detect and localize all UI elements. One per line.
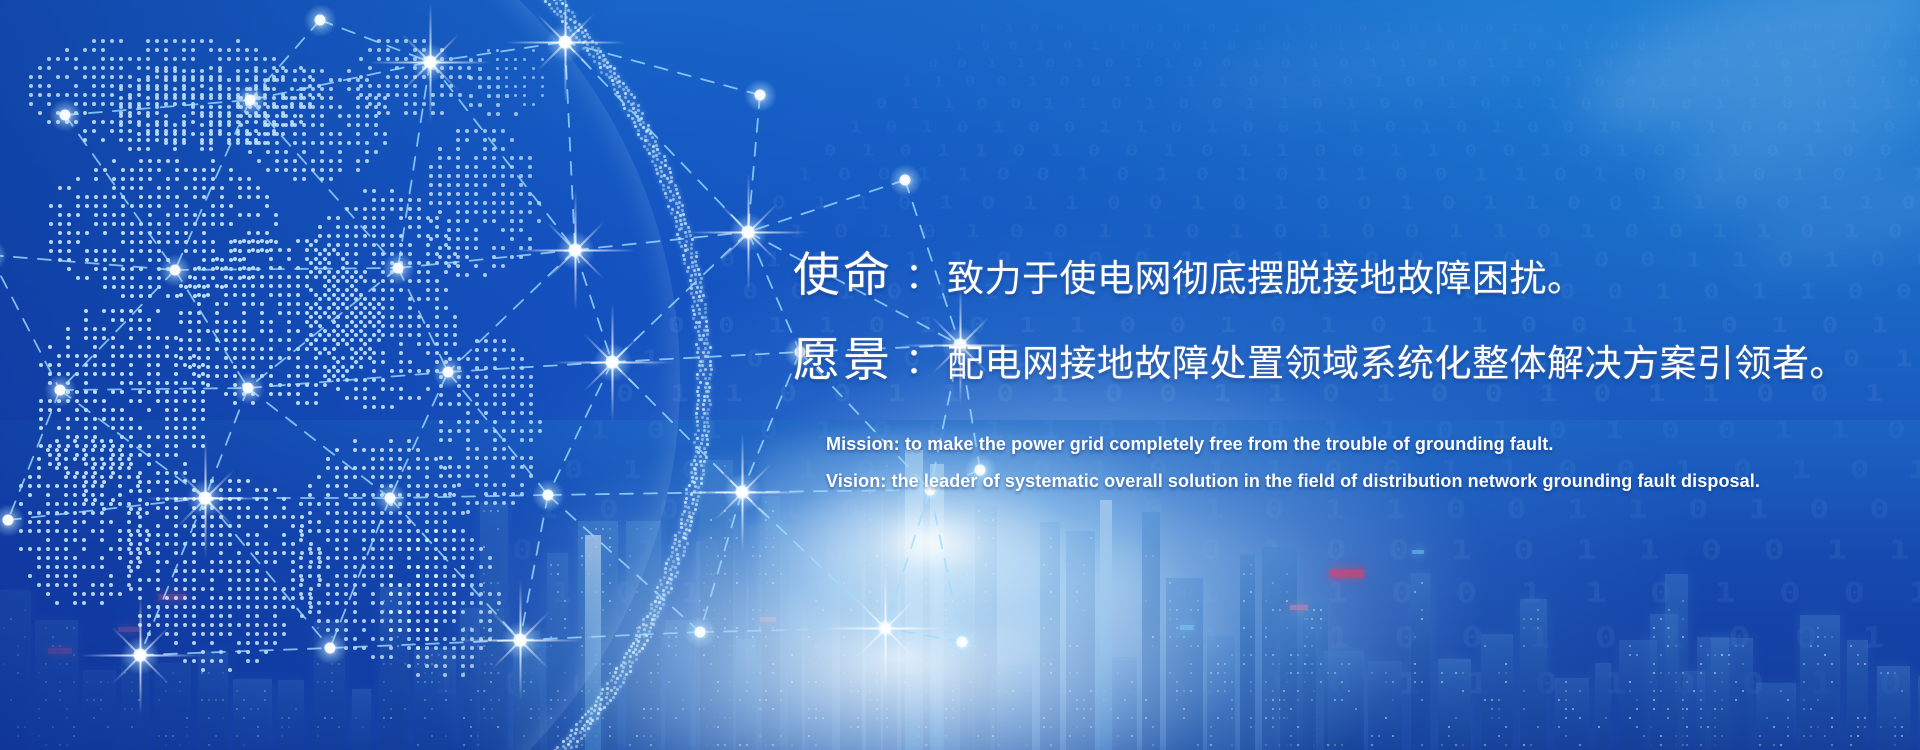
building-window [1169,636,1171,638]
building-window [131,690,133,692]
map-dot [193,240,197,244]
building-window [1857,654,1859,656]
map-dot [466,501,470,505]
map-dot [365,159,369,163]
globe-limb-dot [612,83,615,86]
map-dot [164,138,168,142]
building-window [1378,735,1380,737]
building-window [843,636,845,638]
globe-limb-dot [671,208,674,211]
building-window [904,717,906,719]
map-dot [146,87,150,91]
map-dot [308,610,312,614]
map-dot [182,69,186,73]
building-window [1279,699,1281,701]
map-dot [137,147,141,151]
building-window [1824,636,1826,638]
globe-limb-dot [706,333,709,336]
map-dot [484,339,488,343]
map-dot [278,275,282,279]
building-window [1565,717,1567,719]
map-dot [404,57,408,61]
map-dot [57,399,61,403]
map-dot [92,75,96,79]
map-dot [390,261,394,265]
globe-limb-dot [692,296,695,299]
map-dot [192,444,196,448]
map-dot [439,429,443,433]
map-dot [372,333,376,337]
building-window [1448,735,1450,737]
network-link [565,42,760,95]
map-dot [55,556,59,560]
map-dot [138,399,142,403]
map-dot [245,69,249,73]
map-dot [502,447,506,451]
map-dot [281,96,285,100]
map-dot [229,267,233,271]
building-window [713,645,715,647]
map-dot [326,628,330,632]
vision-value: 配电网接地故障处置领域系统化整体解决方案引领者。 [947,333,1847,387]
map-dot [443,592,447,596]
map-dot [389,493,393,497]
building [380,587,409,750]
map-dot [92,129,96,133]
map-dot [457,402,461,406]
building [1711,638,1752,750]
network-node [245,95,256,106]
building-window [1297,690,1299,692]
globe-limb-dot [669,582,672,585]
map-dot [317,556,321,560]
map-dot [275,141,279,145]
building-window [759,708,761,710]
map-dot [511,366,515,370]
map-dot [399,396,403,400]
globe-limb-dot [696,424,699,427]
building-window [281,726,283,728]
map-dot [228,605,232,609]
map-dot [251,239,255,243]
map-dot [127,457,131,461]
map-dot [484,474,488,478]
map-dot [311,114,315,118]
map-dot [111,408,115,412]
globe-limb-dot [682,554,685,557]
map-dot [179,284,183,288]
building-window [713,618,715,620]
globe-limb-dot [678,531,681,534]
building-window [1714,735,1716,737]
map-dot [246,632,250,636]
map-dot [329,159,333,163]
globe-limb-dot [646,139,649,142]
map-dot [103,222,107,226]
building-window [1686,708,1688,710]
building-window [992,708,994,710]
map-dot [408,360,412,364]
map-dot [210,569,214,573]
map-dot [439,375,443,379]
map-dot [242,284,246,288]
map-dot [484,501,488,505]
building-window [17,726,19,728]
map-dot [356,123,360,127]
building-window [876,618,878,620]
map-dot [145,511,149,515]
building-window [1320,618,1322,620]
globe-limb-dot [653,614,656,617]
map-dot [174,605,178,609]
map-dot [326,502,330,506]
building-window [138,699,140,701]
map-dot [156,399,160,403]
map-dot [175,213,179,217]
map-dot [254,57,258,61]
building-window [609,735,611,737]
map-dot [282,605,286,609]
map-dot [57,444,61,448]
map-dot [291,578,295,582]
map-dot [383,96,387,100]
globe-limb-dot [699,360,702,363]
map-dot [363,279,367,283]
map-dot [119,102,123,106]
map-dot [136,529,140,533]
building-window [773,681,775,683]
building-window [424,699,426,701]
building-window [107,726,109,728]
building-window [736,537,738,539]
globe-limb-dot [579,720,582,723]
map-dot [326,592,330,596]
map-dot [407,583,411,587]
map-dot [74,111,78,115]
globe-limb-dot [583,724,586,727]
globe-limb-dot [586,43,589,46]
map-dot [431,102,435,106]
map-dot [183,381,187,385]
building [1262,547,1297,750]
globe-limb-dot [586,720,589,723]
neon-sign [118,627,140,632]
map-dot [359,347,363,351]
building-window [746,681,748,683]
map-dot [200,78,204,82]
map-dot [246,560,250,564]
map-dot [191,78,195,82]
map-dot [389,547,393,551]
building-window [397,645,399,647]
building-window [550,636,552,638]
map-dot [425,457,429,461]
building-window [477,645,479,647]
map-dot [165,354,169,358]
building-window [668,645,670,647]
building-window [1565,681,1567,683]
map-dot [335,601,339,605]
map-dot [287,383,291,387]
building-window [1090,690,1092,692]
building-window [1334,699,1336,701]
map-dot [371,565,375,569]
map-dot [82,538,86,542]
globe-limb-dot [704,307,707,310]
map-dot [372,252,376,256]
globe-limb-dot [692,317,695,320]
map-dot [269,329,273,333]
map-dot [381,333,385,337]
network-link [330,498,390,648]
map-dot [119,129,123,133]
map-dot [449,75,453,79]
map-dot [456,219,460,223]
globe-limb-dot [640,117,643,120]
map-dot [511,429,515,433]
building-window [470,699,472,701]
map-dot [308,102,312,106]
building-window [1050,726,1052,728]
building-window [1714,726,1716,728]
map-dot [332,329,336,333]
map-dot [377,111,381,115]
map-dot [220,195,224,199]
map-dot [380,547,384,551]
map-dot [155,96,159,100]
globe-limb-dot [588,36,591,39]
building-window [822,609,824,611]
map-dot [121,213,125,217]
map-dot [84,318,88,322]
building-window [978,681,980,683]
map-dot [46,529,50,533]
map-dot [148,159,152,163]
map-dot [210,560,214,564]
map-dot [320,141,324,145]
building-window [925,708,927,710]
map-dot [275,168,279,172]
map-dot [332,320,336,324]
building-window [179,690,181,692]
map-dot [377,338,381,342]
network-node [695,627,706,638]
map-dot [28,574,32,578]
map-dot [338,150,342,154]
map-dot [435,297,439,301]
building [513,631,541,750]
map-dot [145,529,149,533]
map-dot [227,96,231,100]
globe-limb-dot [630,103,633,106]
building-window [1629,654,1631,656]
map-dot [264,596,268,600]
map-dot [300,596,304,600]
building-window [759,699,761,701]
map-dot [341,374,345,378]
map-dot [137,111,141,115]
map-dot [92,84,96,88]
map-dot [100,556,104,560]
globe-limb-dot [635,653,638,656]
building-window [869,582,871,584]
map-dot [344,538,348,542]
map-dot [174,623,178,627]
building-window [383,618,385,620]
map-dot [236,87,240,91]
building-window [713,726,715,728]
globe-limb-dot [609,65,612,68]
building-window [281,717,283,719]
building-window [1484,744,1486,746]
globe-limb-dot [685,235,688,238]
map-dot [389,439,393,443]
map-dot [263,93,267,97]
map-dot [350,365,354,369]
map-dot [156,309,160,313]
building-window [497,609,499,611]
building-window [1636,654,1638,656]
map-dot [444,243,448,247]
map-dot [148,177,152,181]
map-dot [39,426,43,430]
map-dot [309,306,313,310]
map-dot [523,103,526,106]
map-dot [309,324,313,328]
network-link [250,100,398,268]
network-link [140,498,205,655]
building-window [1682,708,1684,710]
map-dot [251,302,255,306]
map-dot [275,78,279,82]
map-dot [220,258,224,262]
map-dot [263,111,267,115]
map-dot [47,66,51,70]
map-dot [456,273,460,277]
globe-limb-dot [656,615,659,618]
map-dot [166,159,170,163]
building-window [595,744,597,746]
map-dot [290,123,294,127]
building-window [886,645,888,647]
building-window [1152,636,1154,638]
map-dot [425,601,429,605]
map-dot [461,628,465,632]
building-window [1290,672,1292,674]
map-dot [456,237,460,241]
building-window [516,636,518,638]
map-dot [511,501,515,505]
map-dot [435,351,439,355]
map-dot [174,336,178,340]
building-window [668,636,670,638]
map-dot [314,383,318,387]
building-window [609,726,611,728]
globe-limb-dot [565,22,568,25]
building-window [1728,663,1730,665]
map-dot [146,96,150,100]
building-window [595,699,597,701]
globe-limb-dot [573,15,576,18]
map-dot [466,375,470,379]
map-dot [448,429,452,433]
map-dot [218,105,222,109]
building-window [773,654,775,656]
building-window [699,708,701,710]
map-dot [263,141,267,145]
map-dot [282,587,286,591]
map-dot [336,387,340,391]
map-dot [192,569,196,573]
map-dot [474,165,478,169]
map-dot [338,78,342,82]
building-window [1901,690,1903,692]
building-window [609,564,611,566]
map-dot [353,466,357,470]
map-dot [164,114,168,118]
globe-limb-dot [685,492,688,495]
map-dot [201,659,205,663]
building-window [876,609,878,611]
globe-limb-dot [675,225,678,228]
map-dot [347,114,351,118]
building-window [1279,609,1281,611]
map-dot [118,556,122,560]
building-window [1505,663,1507,665]
building-window [1290,744,1292,746]
building-window [1505,672,1507,674]
building-window [752,708,754,710]
map-dot [57,354,61,358]
building-window [992,519,994,521]
map-dot [148,213,152,217]
map-dot [309,596,313,600]
building-window [752,609,754,611]
map-dot [84,435,88,439]
building-window [791,744,793,746]
map-dot [66,327,70,331]
network-node [514,634,527,647]
building-window [1682,600,1684,602]
building-window [636,528,638,530]
building-window [1901,726,1903,728]
map-dot [233,239,237,243]
map-dot [356,105,360,109]
map-dot [129,551,133,555]
building-window [602,609,604,611]
building-window [729,519,731,521]
map-dot [118,547,122,551]
map-dot [110,120,114,124]
building-window [765,699,767,701]
map-dot [57,453,61,457]
map-dot [511,393,515,397]
map-dot [501,246,505,250]
map-dot [254,87,258,91]
map-dot [228,506,232,510]
map-dot [484,366,488,370]
map-dot [381,360,385,364]
map-dot [49,240,53,244]
globe-limb-dot [662,593,665,596]
map-dot [137,84,141,88]
map-dot [269,293,273,297]
globe-limb-dot [676,233,679,236]
map-dot [371,502,375,506]
map-dot [155,87,159,91]
map-dot [119,105,123,109]
building-window [483,582,485,584]
